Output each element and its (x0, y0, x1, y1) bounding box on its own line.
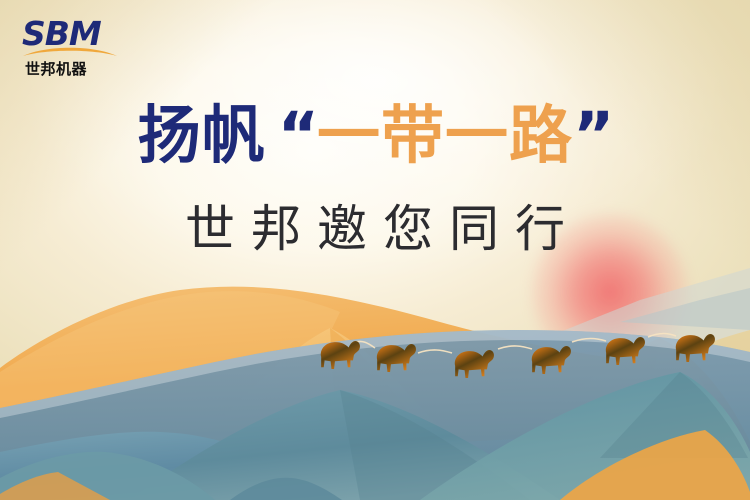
company-name-cn: 世邦机器 (25, 60, 88, 78)
subtitle: 世邦邀您同行 (0, 196, 750, 262)
sbm-logo[interactable]: SBM 世邦机器 (20, 12, 130, 78)
headline-quote-open: “ (278, 99, 317, 172)
headline-part-blue: 扬帆 (138, 99, 266, 172)
headline: 扬帆“一带一路” (0, 96, 750, 176)
headline-part-orange: 一带一路 (317, 99, 573, 172)
promo-banner: SBM 世邦机器 扬帆“一带一路” 世邦邀您同行 (0, 0, 750, 500)
headline-quote-close: ” (573, 99, 612, 172)
sbm-wordmark: SBM (22, 14, 102, 53)
svg-text:SBM: SBM (22, 14, 102, 53)
